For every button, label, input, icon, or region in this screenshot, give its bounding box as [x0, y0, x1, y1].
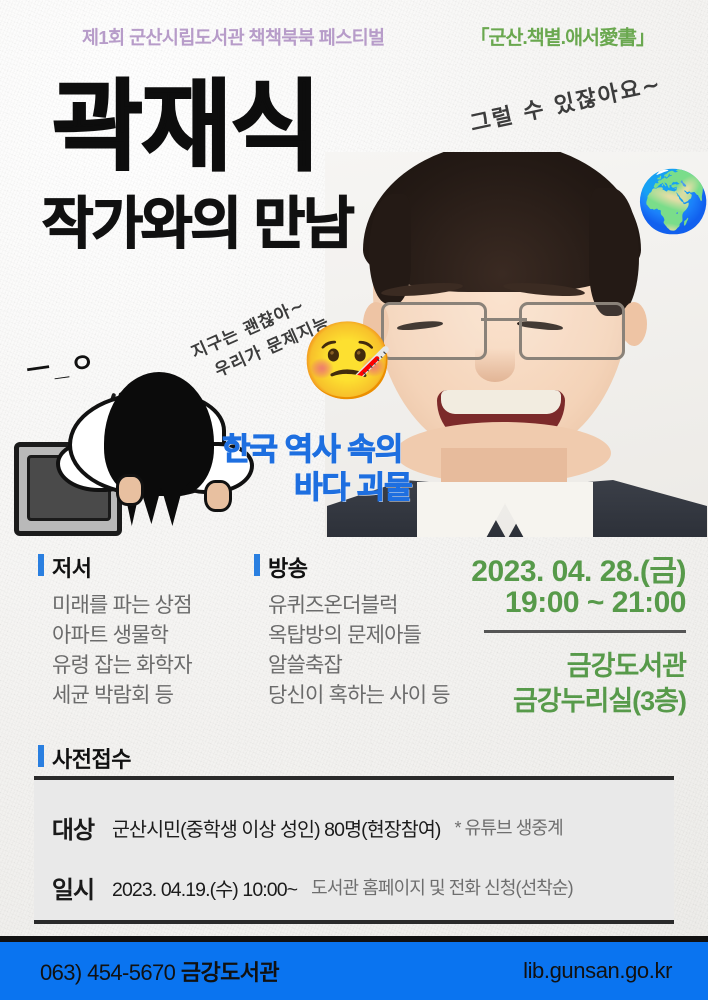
portrait-glasses: [379, 302, 627, 354]
registration-box: 대상 군산시민(중학생 이상 성인) 80명(현장참여) * 유튜브 생중계 일…: [34, 776, 674, 924]
section-heading-books: 저서: [52, 551, 91, 583]
glasses-lens-right: [519, 302, 625, 360]
portrait-shirt-collar: [417, 482, 593, 537]
registration-row-note: * 유튜브 생중계: [454, 814, 562, 840]
ghost-hand-left: [116, 474, 144, 506]
list-item: 유령 잡는 화학자: [52, 651, 192, 681]
registration-row-value: 군산시민(중학생 이상 성인) 80명(현장참여): [112, 813, 440, 842]
footer-bar: 063) 454-5670 금강도서관 lib.gunsan.go.kr: [0, 936, 708, 1000]
event-time: 19:00 ~ 21:00: [505, 586, 686, 620]
portrait-hair: [363, 152, 641, 292]
registration-row-value: 2023. 04.19.(수) 10:00~: [112, 873, 297, 902]
registration-row-note: 도서관 홈페이지 및 전화 신청(선착순): [311, 874, 573, 900]
footer-organization: 금강도서관: [181, 960, 279, 985]
globe-icon: 🌍: [636, 166, 708, 237]
ghost-hand-right: [204, 480, 232, 512]
list-item: 알쓸축잡: [268, 651, 450, 681]
event-venue-line-1: 금강도서관: [567, 644, 686, 683]
handwriting-note-top: 그럴 수 있잖아요~: [467, 66, 665, 138]
list-item: 유퀴즈온더블럭: [268, 591, 450, 621]
books-list: 미래를 파는 상점 아파트 생물학 유령 잡는 화학자 세균 박람회 등: [52, 591, 192, 711]
event-venue-line-2: 금강누리실(3층): [513, 679, 686, 718]
list-item: 미래를 파는 상점: [52, 591, 192, 621]
ghost-face-emoticon: ㅡ_ㅇ: [24, 341, 100, 388]
registration-row-label: 일시: [34, 870, 112, 905]
list-item: 옥탑방의 문제아들: [268, 621, 450, 651]
list-item: 세균 박람회 등: [52, 681, 192, 711]
table-row: 대상 군산시민(중학생 이상 성인) 80명(현장참여) * 유튜브 생중계: [34, 798, 674, 856]
page-subtitle: 작가와의 만남: [42, 196, 353, 252]
glasses-bridge: [481, 318, 527, 321]
broadcast-list: 유퀴즈온더블럭 옥탑방의 문제아들 알쓸축잡 당신이 혹하는 사이 등: [268, 591, 450, 711]
page-title: 곽재식: [52, 78, 319, 175]
event-date: 2023. 04. 28.(금): [471, 546, 686, 590]
festival-title: 제1회 군산시립도서관 책책북북 페스티벌: [82, 24, 384, 50]
footer-phone-number: 063) 454-5670: [40, 960, 175, 985]
glasses-lens-left: [381, 302, 487, 360]
footer-website-url[interactable]: lib.gunsan.go.kr: [523, 958, 672, 984]
footer-contact: 063) 454-5670 금강도서관: [40, 955, 279, 987]
poster-root: 제1회 군산시립도서관 책책북북 페스티벌 「군산.책볕.애서愛書」 곽재식 작…: [0, 0, 708, 1000]
section-heading-broadcast: 방송: [268, 551, 307, 583]
sick-globe-icon: 🤒: [300, 316, 395, 406]
portrait-teeth: [441, 390, 561, 414]
topic-line-2: 바다 괴물: [294, 462, 412, 507]
list-item: 아파트 생물학: [52, 621, 192, 651]
table-row: 일시 2023. 04.19.(수) 10:00~ 도서관 홈페이지 및 전화 …: [34, 858, 674, 916]
registration-row-label: 대상: [34, 810, 112, 845]
section-heading-registration: 사전접수: [52, 742, 131, 774]
divider: [484, 630, 686, 633]
list-item: 당신이 혹하는 사이 등: [268, 681, 450, 711]
brand-title: 「군산.책볕.애서愛書」: [470, 21, 654, 50]
